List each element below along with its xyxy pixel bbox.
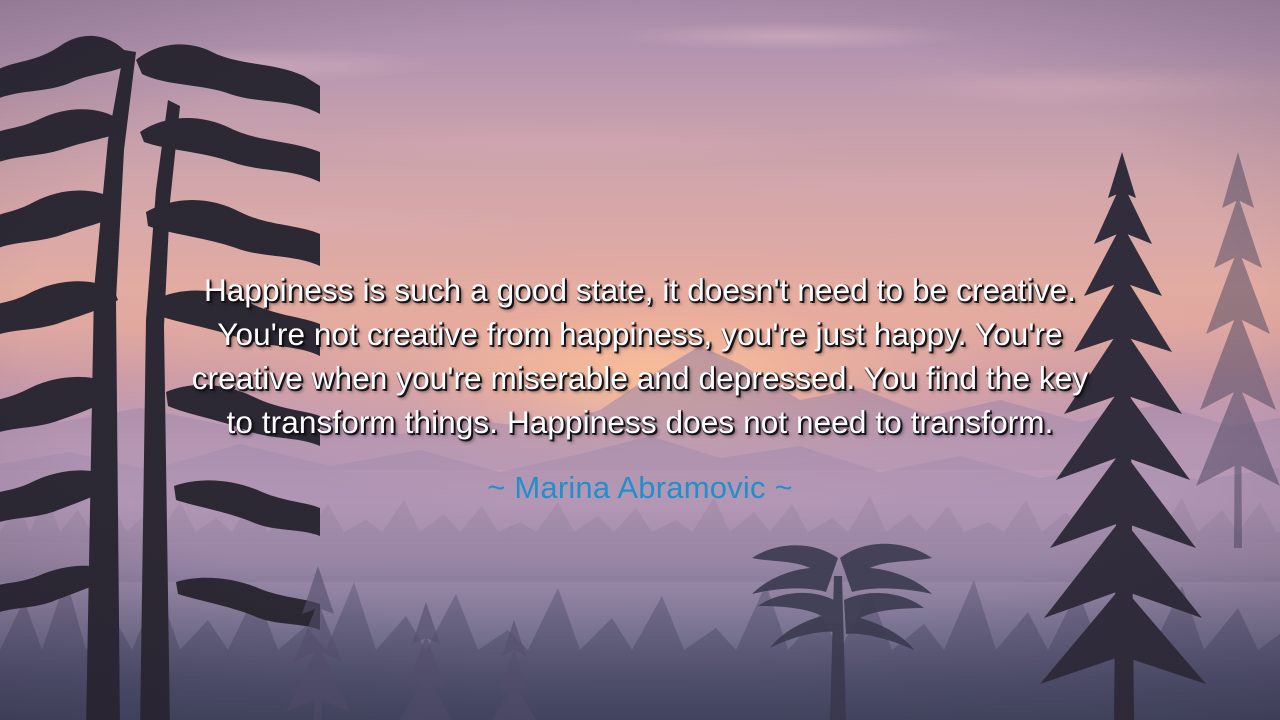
- quote-text: Happiness is such a good state, it doesn…: [60, 268, 1220, 444]
- quote-image-canvas: Happiness is such a good state, it doesn…: [0, 0, 1280, 720]
- quote-block: Happiness is such a good state, it doesn…: [0, 268, 1280, 444]
- quote-attribution: ~ Marina Abramovic ~: [0, 468, 1280, 508]
